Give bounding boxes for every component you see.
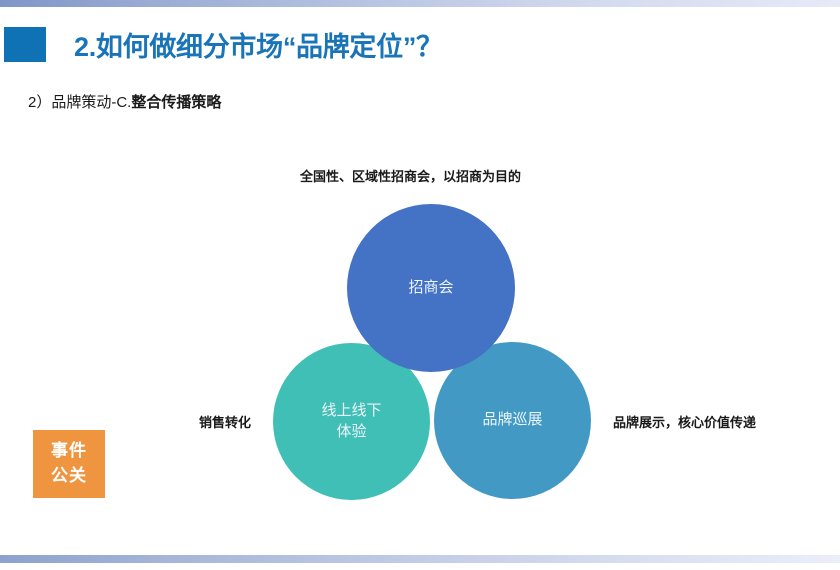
- sub-heading-strong: 整合传播策略: [131, 94, 221, 111]
- callout-line-2: 公关: [51, 464, 87, 489]
- sub-heading: 2）品牌策动-C.整合传播策略: [28, 91, 221, 112]
- diagram-top-caption: 全国性、区域性招商会，以招商为目的: [300, 166, 521, 185]
- venn-circle-top: 招商会: [347, 204, 515, 372]
- annotation-right: 品牌展示，核心价值传递: [613, 412, 756, 431]
- slide-canvas: 2.如何做细分市场“品牌定位”？ 2）品牌策动-C.整合传播策略 全国性、区域性…: [0, 0, 840, 570]
- bottom-accent-bar: [0, 555, 840, 563]
- venn-circle-bottom-left-label-line2: 体验: [321, 422, 381, 442]
- callout-event-pr: 事件 公关: [33, 430, 105, 498]
- callout-line-1: 事件: [51, 439, 87, 464]
- venn-circle-top-label: 招商会: [408, 278, 453, 298]
- venn-circle-bottom-right-label: 品牌巡展: [482, 410, 542, 430]
- title-accent-block: [4, 27, 46, 62]
- venn-circle-bottom-left-label-line1: 线上线下: [321, 401, 381, 421]
- top-accent-bar: [0, 0, 840, 7]
- page-title: 2.如何做细分市场“品牌定位”？: [74, 25, 443, 64]
- annotation-left: 销售转化: [199, 412, 251, 431]
- sub-heading-prefix: 2）品牌策动-C.: [28, 94, 131, 111]
